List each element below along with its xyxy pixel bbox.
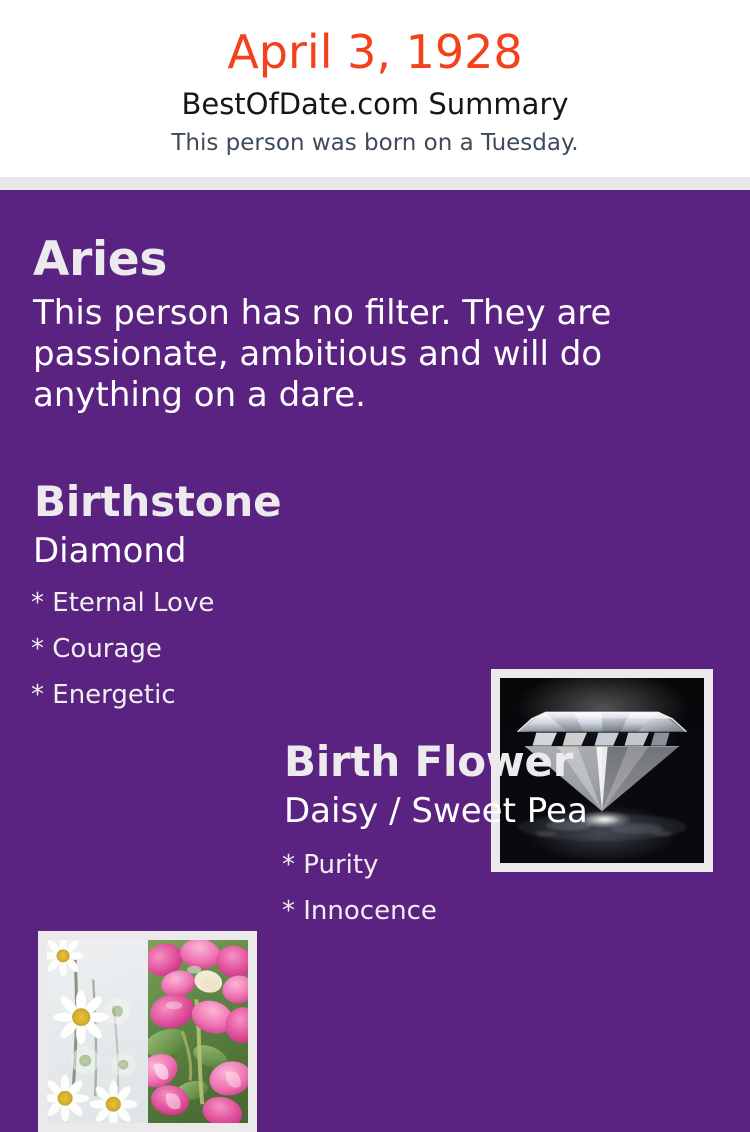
site-summary-label: BestOfDate.com Summary	[0, 86, 750, 122]
birthflower-title: Birth Flower	[284, 737, 573, 787]
list-item: * Energetic	[31, 672, 461, 718]
content-panel: Aries This person has no filter. They ar…	[0, 190, 750, 1000]
daisy-icon	[47, 940, 148, 1123]
list-item: * Eternal Love	[31, 580, 461, 626]
birthflower-image-frame	[38, 931, 257, 1132]
birthstone-title: Birthstone	[34, 477, 281, 527]
daisy-and-sweet-pea-photo	[47, 940, 248, 1123]
list-item: * Courage	[31, 626, 461, 672]
birthflower-trait-list: * Purity * Innocence	[282, 842, 712, 934]
daisy-photo-half	[47, 940, 148, 1123]
page-title-date: April 3, 1928	[0, 25, 750, 79]
list-item: * Innocence	[282, 888, 712, 934]
sweet-pea-icon	[148, 940, 249, 1123]
summary-page: April 3, 1928 BestOfDate.com Summary Thi…	[0, 0, 750, 1000]
zodiac-sign-title: Aries	[33, 232, 167, 288]
list-item: * Purity	[282, 842, 712, 888]
birthflower-name: Daisy / Sweet Pea	[284, 791, 588, 832]
birthstone-trait-list: * Eternal Love * Courage * Energetic	[31, 580, 461, 718]
page-header: April 3, 1928 BestOfDate.com Summary Thi…	[0, 0, 750, 177]
birth-day-note: This person was born on a Tuesday.	[0, 128, 750, 158]
sweet-pea-photo-half	[148, 940, 249, 1123]
birthstone-name: Diamond	[33, 531, 187, 572]
birthflower-image	[47, 940, 248, 1123]
zodiac-description: This person has no filter. They are pass…	[33, 293, 653, 416]
header-divider	[0, 177, 750, 190]
